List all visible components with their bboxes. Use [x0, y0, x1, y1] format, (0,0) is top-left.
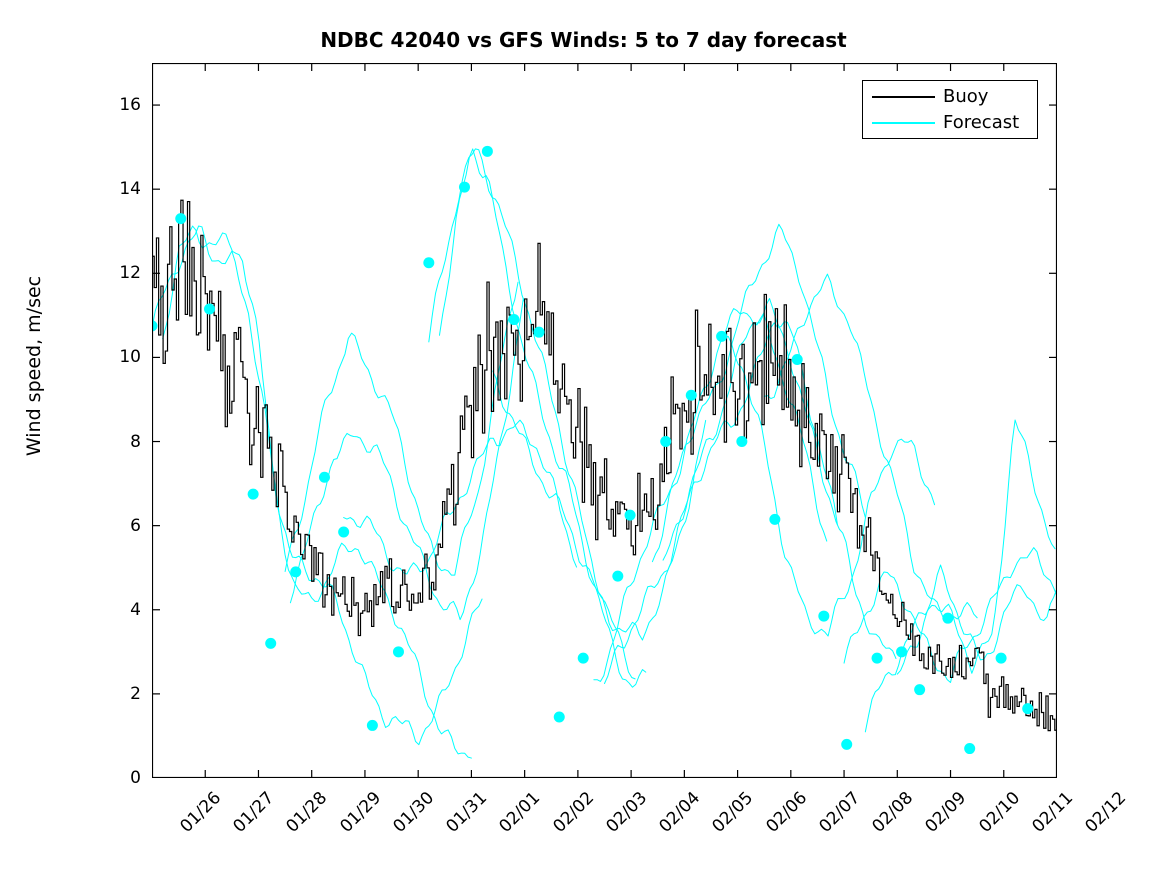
legend-label: Forecast	[943, 111, 1019, 135]
legend-entry[interactable]: Forecast	[863, 111, 1039, 135]
forecast-marker-point	[459, 182, 470, 193]
buoy-series-layer	[152, 200, 1057, 730]
forecast-marker-point	[625, 510, 636, 521]
forecast-marker-point	[1022, 703, 1033, 714]
y-tick-label: 10	[81, 347, 141, 367]
forecast-marker-point	[686, 390, 697, 401]
x-tick-label: 02/07	[815, 788, 864, 837]
y-tick-label: 8	[81, 432, 141, 452]
y-tick-label: 0	[81, 768, 141, 788]
forecast-marker-point	[290, 566, 301, 577]
forecast-marker-point	[914, 684, 925, 695]
x-tick-label: 01/30	[389, 788, 438, 837]
forecast-marker-point	[736, 436, 747, 447]
x-tick-label: 01/27	[230, 788, 279, 837]
x-tick-label: 02/04	[655, 788, 704, 837]
forecast-marker-point	[769, 514, 780, 525]
forecast-marker-point	[818, 611, 829, 622]
chart-figure: NDBC 42040 vs GFS Winds: 5 to 7 day fore…	[0, 0, 1167, 875]
forecast-line	[439, 149, 645, 687]
forecast-marker-point	[660, 436, 671, 447]
forecast-marker-point	[319, 472, 330, 483]
y-tick-label: 2	[81, 684, 141, 704]
forecast-marker-layer	[152, 146, 1033, 754]
forecast-marker-point	[792, 354, 803, 365]
buoy-line	[152, 200, 1057, 730]
x-tick-label: 02/10	[975, 788, 1024, 837]
y-tick-label: 12	[81, 263, 141, 283]
forecast-marker-point	[996, 653, 1007, 664]
forecast-marker-point	[554, 712, 565, 723]
legend-line-swatch	[872, 96, 935, 98]
forecast-line	[290, 298, 523, 619]
x-tick-label: 01/31	[443, 788, 492, 837]
forecast-marker-point	[509, 314, 520, 325]
y-tick-label: 16	[81, 95, 141, 115]
y-axis-label: Wind speed, m/sec	[23, 66, 45, 666]
x-tick-label: 02/11	[1028, 788, 1077, 837]
forecast-series-layer	[152, 149, 1057, 758]
forecast-marker-point	[248, 489, 259, 500]
forecast-line	[663, 298, 896, 658]
y-tick-label: 14	[81, 179, 141, 199]
x-tick-label: 01/29	[336, 788, 385, 837]
forecast-marker-point	[612, 571, 623, 582]
forecast-marker-point	[841, 739, 852, 750]
forecast-marker-point	[942, 613, 953, 624]
forecast-line	[764, 274, 977, 619]
forecast-marker-point	[265, 638, 276, 649]
axes-frame	[153, 64, 1057, 778]
x-tick-label: 01/26	[176, 788, 225, 837]
forecast-marker-point	[204, 304, 215, 315]
forecast-marker-point	[175, 213, 186, 224]
page-title: NDBC 42040 vs GFS Winds: 5 to 7 day fore…	[0, 28, 1167, 52]
x-tick-label: 02/01	[496, 788, 545, 837]
legend-box: BuoyForecast	[862, 80, 1038, 139]
forecast-marker-point	[578, 653, 589, 664]
x-tick-label: 02/06	[762, 788, 811, 837]
x-tick-label: 02/02	[549, 788, 598, 837]
forecast-marker-point	[367, 720, 378, 731]
forecast-marker-point	[872, 653, 883, 664]
x-tick-label: 02/03	[602, 788, 651, 837]
forecast-marker-point	[393, 646, 404, 657]
forecast-line	[429, 149, 635, 679]
x-tick-label: 02/05	[709, 788, 758, 837]
legend-entry[interactable]: Buoy	[863, 85, 1039, 109]
forecast-line	[152, 226, 471, 758]
forecast-marker-point	[423, 257, 434, 268]
plot-canvas	[152, 63, 1057, 778]
x-tick-label: 01/28	[283, 788, 332, 837]
forecast-marker-point	[896, 646, 907, 657]
x-tick-label: 02/12	[1081, 788, 1130, 837]
forecast-line	[594, 309, 827, 682]
forecast-marker-point	[482, 146, 493, 157]
y-tick-label: 4	[81, 600, 141, 620]
x-tick-label: 02/09	[922, 788, 971, 837]
forecast-marker-point	[534, 327, 545, 338]
x-tick-label: 02/08	[868, 788, 917, 837]
y-tick-label: 6	[81, 516, 141, 536]
legend-line-swatch	[872, 122, 935, 124]
forecast-line	[865, 420, 1055, 732]
forecast-marker-point	[716, 331, 727, 342]
forecast-marker-point	[338, 526, 349, 537]
forecast-marker-point	[964, 743, 975, 754]
plot-area	[152, 63, 1057, 778]
legend-label: Buoy	[943, 85, 988, 109]
